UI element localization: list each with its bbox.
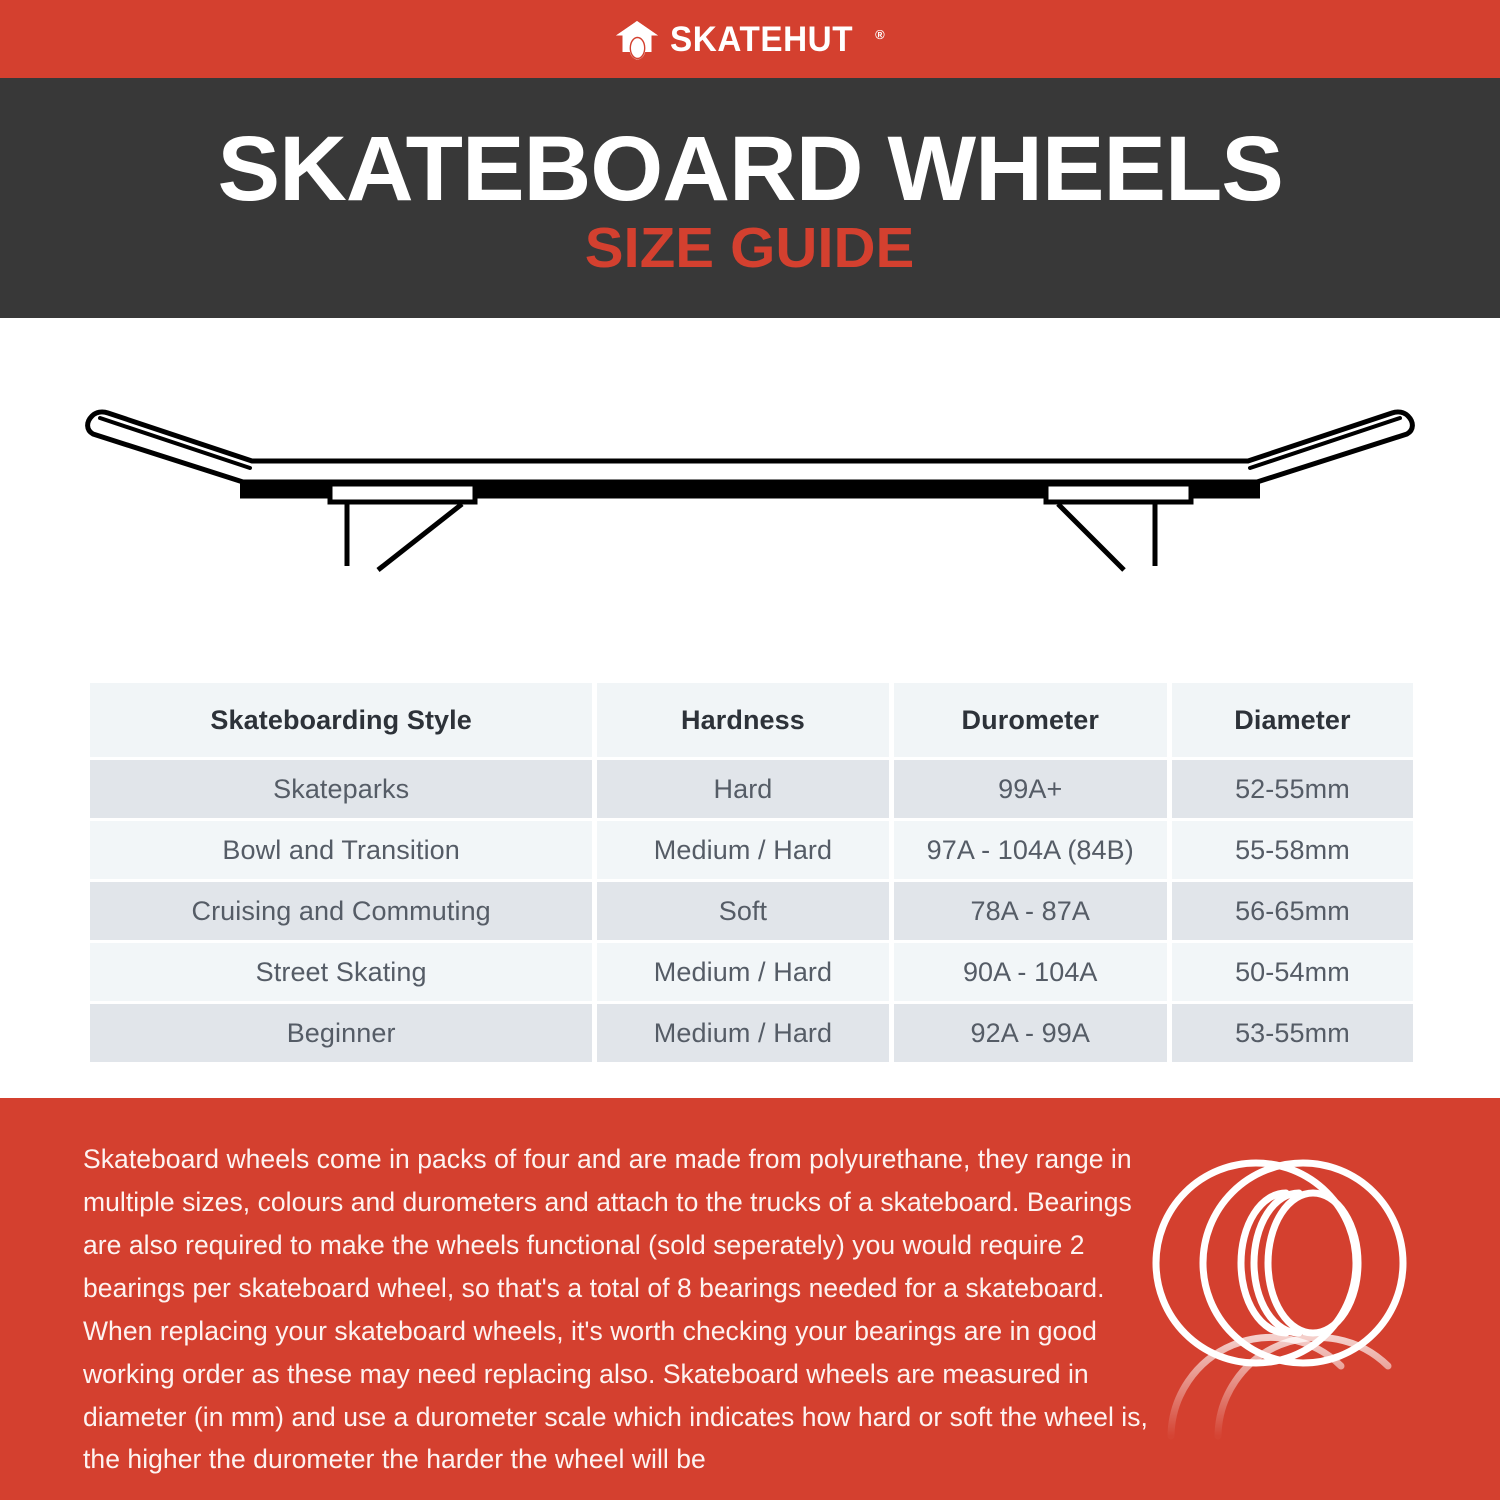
table-row: Skateparks Hard 99A+ 52-55mm [90,760,1413,818]
cell-diameter: 56-65mm [1172,882,1413,940]
left-truck-hanger [378,504,462,570]
brand-lockup: SKATEHUT ® [615,18,884,60]
cell-durometer: 97A - 104A (84B) [894,821,1167,879]
footer-description: Skateboard wheels come in packs of four … [83,1138,1158,1481]
brand-name: SKATEHUT [670,22,853,57]
column-header-durometer: Durometer [894,683,1167,757]
cell-durometer: 78A - 87A [894,882,1167,940]
table-row: Bowl and Transition Medium / Hard 97A - … [90,821,1413,879]
cell-diameter: 50-54mm [1172,943,1413,1001]
column-header-hardness: Hardness [597,683,888,757]
cell-durometer: 92A - 99A [894,1004,1167,1062]
skateboard-side-view-svg [0,318,1500,673]
size-guide-table: Skateboarding Style Hardness Durometer D… [85,680,1418,1065]
table-row: Street Skating Medium / Hard 90A - 104A … [90,943,1413,1001]
title-band: SKATEBOARD WHEELS SIZE GUIDE [0,78,1500,318]
table-row: Beginner Medium / Hard 92A - 99A 53-55mm [90,1004,1413,1062]
page-title: SKATEBOARD WHEELS [217,125,1282,213]
table-header-row: Skateboarding Style Hardness Durometer D… [90,683,1413,757]
table-body: Skateparks Hard 99A+ 52-55mm Bowl and Tr… [90,760,1413,1062]
cell-hardness: Medium / Hard [597,943,888,1001]
cell-durometer: 90A - 104A [894,943,1167,1001]
cell-diameter: 52-55mm [1172,760,1413,818]
size-guide-table-wrap: Skateboarding Style Hardness Durometer D… [85,680,1418,1062]
wheel-illustration [1138,1146,1468,1456]
cell-style: Beginner [90,1004,592,1062]
right-truck-hanger [1058,504,1124,570]
page-subtitle: SIZE GUIDE [585,220,915,277]
cell-hardness: Hard [597,760,888,818]
cell-style: Street Skating [90,943,592,1001]
table-row: Cruising and Commuting Soft 78A - 87A 56… [90,882,1413,940]
cell-hardness: Medium / Hard [597,1004,888,1062]
infographic-page: SKATEHUT ® SKATEBOARD WHEELS SIZE GUIDE [0,0,1500,1500]
footer-band: Skateboard wheels come in packs of four … [0,1098,1500,1500]
cell-hardness: Medium / Hard [597,821,888,879]
cell-style: Bowl and Transition [90,821,592,879]
right-truck-baseplate [1046,484,1191,502]
column-header-style: Skateboarding Style [90,683,592,757]
deck-outline [88,412,1413,482]
brand-bar: SKATEHUT ® [0,0,1500,78]
cell-diameter: 55-58mm [1172,821,1413,879]
left-truck-baseplate [330,484,475,502]
cell-style: Cruising and Commuting [90,882,592,940]
cell-hardness: Soft [597,882,888,940]
cell-style: Skateparks [90,760,592,818]
skateboard-wheel-outline-icon [1138,1146,1468,1456]
table-head: Skateboarding Style Hardness Durometer D… [90,683,1413,757]
hut-house-icon [615,20,659,60]
cell-diameter: 53-55mm [1172,1004,1413,1062]
skateboard-illustration [0,318,1500,673]
column-header-diameter: Diameter [1172,683,1413,757]
cell-durometer: 99A+ [894,760,1167,818]
registered-mark: ® [875,28,885,41]
